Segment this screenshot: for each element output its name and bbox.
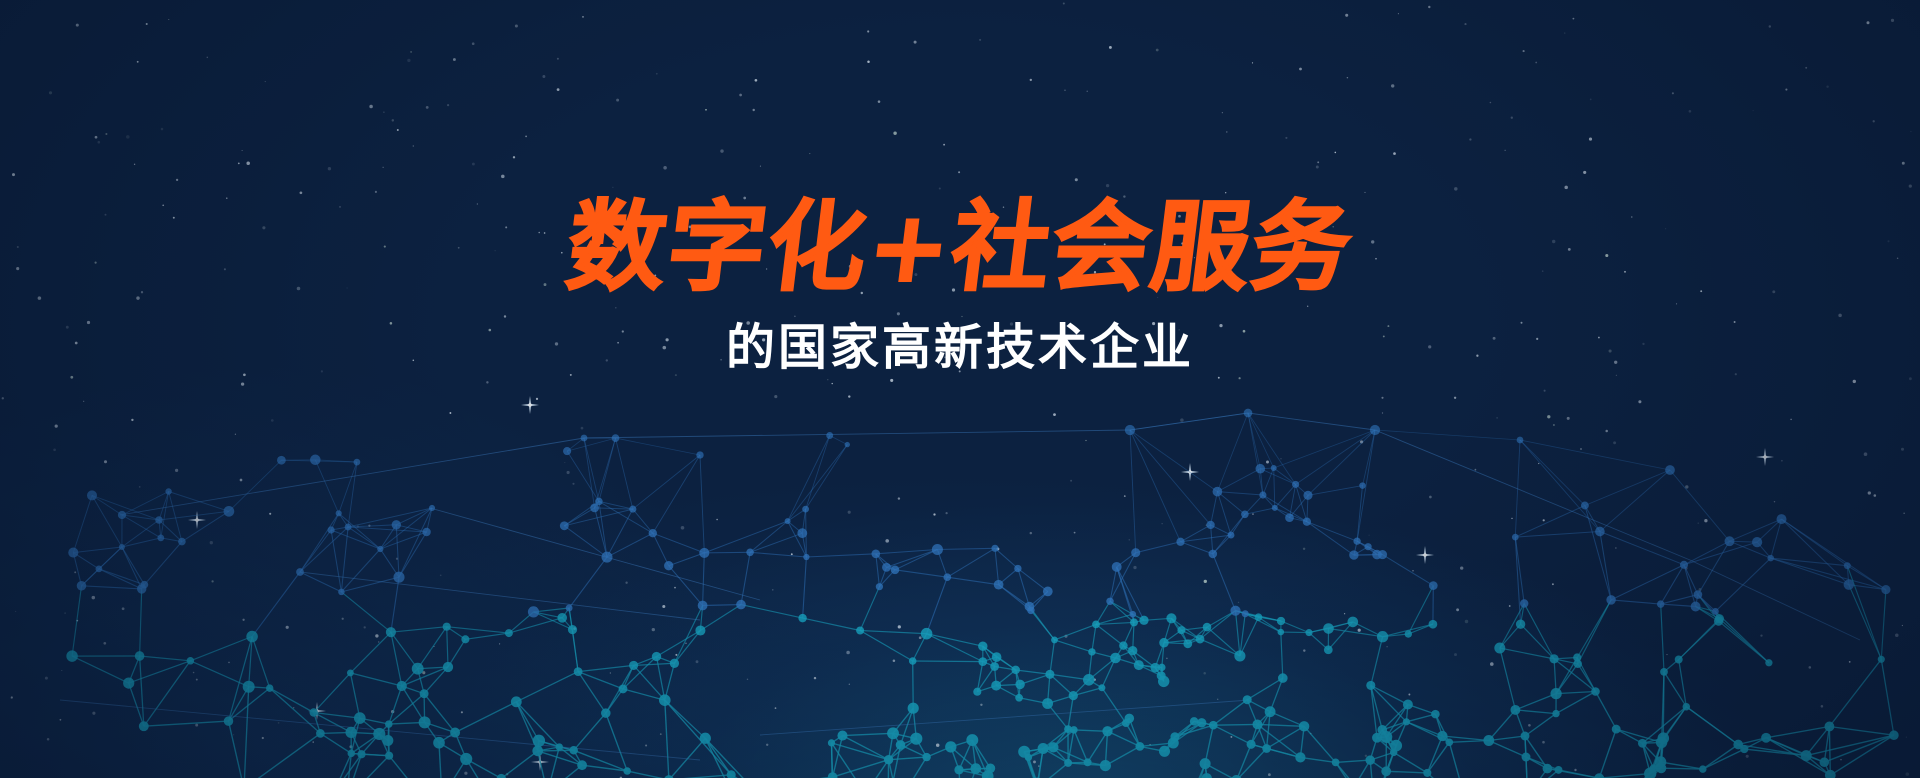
banner-text-block: 数字化+社会服务 的国家高新技术企业 — [0, 196, 1920, 377]
banner-subtitle: 的国家高新技术企业 — [0, 318, 1920, 377]
hero-banner: 数字化+社会服务 的国家高新技术企业 — [0, 0, 1920, 778]
background-vignette — [0, 0, 1920, 778]
banner-headline: 数字化+社会服务 — [0, 196, 1920, 302]
